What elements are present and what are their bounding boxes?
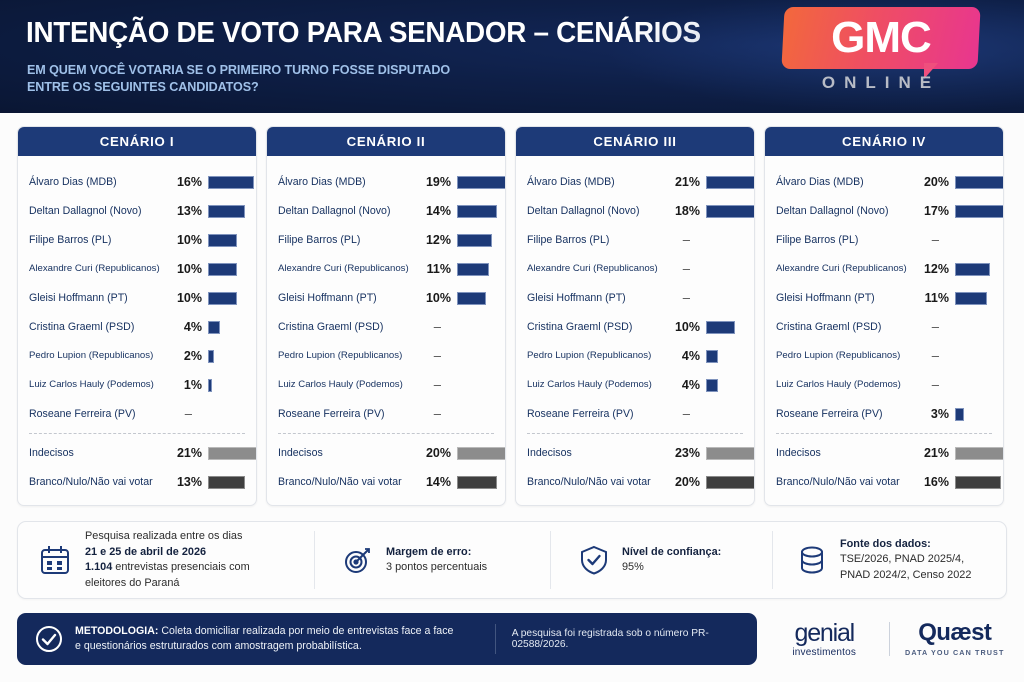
candidate-percent: – bbox=[642, 254, 700, 283]
candidate-row: Gleisi Hoffmann (PT)10% bbox=[18, 283, 256, 312]
candidate-bar bbox=[208, 447, 257, 460]
candidate-row: Deltan Dallagnol (Novo)14% bbox=[267, 196, 505, 225]
candidate-name: Alexandre Curi (Republicanos) bbox=[278, 254, 409, 283]
candidate-row: Pedro Lupion (Republicanos)4% bbox=[516, 341, 754, 370]
scenario-rows: Álvaro Dias (MDB)20%Deltan Dallagnol (No… bbox=[765, 156, 1003, 505]
candidate-row: Roseane Ferreira (PV)– bbox=[18, 399, 256, 428]
page-title: INTENÇÃO DE VOTO PARA SENADOR – CENÁRIOS bbox=[26, 17, 701, 50]
candidate-bar bbox=[457, 476, 497, 489]
interviews-line-2: eleitores do Paraná bbox=[85, 577, 179, 589]
candidate-bar bbox=[706, 321, 735, 334]
candidate-percent: 16% bbox=[144, 167, 202, 196]
section-divider bbox=[29, 433, 245, 434]
candidate-name: Indecisos bbox=[527, 438, 572, 467]
methodology-bar: METODOLOGIA: Coleta domiciliar realizada… bbox=[17, 613, 757, 665]
section-divider bbox=[776, 433, 992, 434]
source-title: Fonte dos dados: bbox=[840, 538, 931, 550]
scenario-column: CENÁRIO IIIÁlvaro Dias (MDB)21%Deltan Da… bbox=[515, 126, 755, 506]
candidate-bar bbox=[457, 205, 497, 218]
candidate-name: Luiz Carlos Hauly (Podemos) bbox=[278, 370, 403, 399]
info-panel: Pesquisa realizada entre os dias 21 e 25… bbox=[17, 521, 1007, 599]
methodology-text: METODOLOGIA: Coleta domiciliar realizada… bbox=[75, 624, 491, 654]
candidate-name: Filipe Barros (PL) bbox=[776, 225, 858, 254]
candidate-row: Filipe Barros (PL)12% bbox=[267, 225, 505, 254]
candidate-row: Pedro Lupion (Republicanos)– bbox=[765, 341, 1003, 370]
candidate-name: Deltan Dallagnol (Novo) bbox=[527, 196, 639, 225]
candidate-percent: 20% bbox=[642, 467, 700, 496]
candidate-percent: 12% bbox=[891, 254, 949, 283]
candidate-bar bbox=[955, 447, 1004, 460]
candidate-percent: 13% bbox=[144, 196, 202, 225]
candidate-row: Branco/Nulo/Não vai votar16% bbox=[765, 467, 1003, 496]
quaest-logo: Quæst DATA YOU CAN TRUST bbox=[900, 621, 1011, 657]
candidate-percent: – bbox=[393, 341, 451, 370]
candidate-row: Indecisos20% bbox=[267, 438, 505, 467]
candidate-row: Filipe Barros (PL)10% bbox=[18, 225, 256, 254]
candidate-name: Gleisi Hoffmann (PT) bbox=[527, 283, 626, 312]
candidate-percent: 12% bbox=[393, 225, 451, 254]
methodology-line-1: Coleta domiciliar realizada por meio de … bbox=[158, 625, 453, 637]
section-divider bbox=[278, 433, 494, 434]
candidate-percent: 21% bbox=[642, 167, 700, 196]
candidate-bar bbox=[457, 263, 489, 276]
candidate-name: Roseane Ferreira (PV) bbox=[29, 399, 136, 428]
candidate-percent: 19% bbox=[393, 167, 451, 196]
candidate-row: Álvaro Dias (MDB)16% bbox=[18, 167, 256, 196]
candidate-row: Indecisos21% bbox=[18, 438, 256, 467]
candidate-percent: – bbox=[393, 399, 451, 428]
candidate-name: Álvaro Dias (MDB) bbox=[527, 167, 615, 196]
methodology-line-2: e questionários estruturados com amostra… bbox=[75, 640, 362, 652]
candidate-bar bbox=[208, 379, 212, 392]
candidate-bar bbox=[706, 476, 755, 489]
scenario-rows: Álvaro Dias (MDB)19%Deltan Dallagnol (No… bbox=[267, 156, 505, 505]
candidate-row: Indecisos21% bbox=[765, 438, 1003, 467]
header-banner: INTENÇÃO DE VOTO PARA SENADOR – CENÁRIOS… bbox=[0, 0, 1024, 113]
candidate-bar bbox=[208, 350, 214, 363]
candidate-row: Luiz Carlos Hauly (Podemos)1% bbox=[18, 370, 256, 399]
candidate-row: Roseane Ferreira (PV)– bbox=[516, 399, 754, 428]
confidence-title: Nível de confiança: bbox=[622, 546, 721, 558]
candidate-row: Alexandre Curi (Republicanos)12% bbox=[765, 254, 1003, 283]
candidate-percent: 23% bbox=[642, 438, 700, 467]
candidate-name: Alexandre Curi (Republicanos) bbox=[776, 254, 907, 283]
info-source-text: Fonte dos dados: TSE/2026, PNAD 2025/4, … bbox=[840, 537, 971, 584]
candidate-row: Pedro Lupion (Republicanos)2% bbox=[18, 341, 256, 370]
candidate-row: Filipe Barros (PL)– bbox=[516, 225, 754, 254]
quaest-tagline: DATA YOU CAN TRUST bbox=[900, 648, 1011, 657]
candidate-bar bbox=[706, 447, 755, 460]
candidate-name: Indecisos bbox=[29, 438, 74, 467]
candidate-row: Deltan Dallagnol (Novo)18% bbox=[516, 196, 754, 225]
candidate-percent: 14% bbox=[393, 196, 451, 225]
candidate-bar bbox=[955, 476, 1001, 489]
candidate-percent: 17% bbox=[891, 196, 949, 225]
candidate-row: Álvaro Dias (MDB)19% bbox=[267, 167, 505, 196]
logo-wordmark: GMC bbox=[783, 7, 979, 69]
candidate-name: Roseane Ferreira (PV) bbox=[527, 399, 634, 428]
candidate-percent: – bbox=[642, 225, 700, 254]
candidate-name: Pedro Lupion (Republicanos) bbox=[776, 341, 900, 370]
candidate-name: Branco/Nulo/Não vai votar bbox=[278, 467, 402, 496]
candidate-row: Deltan Dallagnol (Novo)17% bbox=[765, 196, 1003, 225]
candidate-bar bbox=[706, 350, 718, 363]
candidate-percent: 10% bbox=[144, 225, 202, 254]
period-dates: 21 e 25 de abril de 2026 bbox=[85, 546, 206, 558]
scenario-column: CENÁRIO IÁlvaro Dias (MDB)16%Deltan Dall… bbox=[17, 126, 257, 506]
candidate-bar bbox=[208, 263, 237, 276]
registration-number: A pesquisa foi registrada sob o número P… bbox=[512, 628, 757, 650]
info-confidence-text: Nível de confiança: 95% bbox=[622, 545, 721, 576]
candidate-name: Branco/Nulo/Não vai votar bbox=[29, 467, 153, 496]
scenario-rows: Álvaro Dias (MDB)16%Deltan Dallagnol (No… bbox=[18, 156, 256, 505]
candidate-name: Cristina Graeml (PSD) bbox=[29, 312, 134, 341]
candidate-percent: – bbox=[393, 370, 451, 399]
candidate-percent: – bbox=[891, 225, 949, 254]
methodology-divider bbox=[495, 624, 496, 654]
candidate-row: Luiz Carlos Hauly (Podemos)4% bbox=[516, 370, 754, 399]
gmc-logo: GMC ONLINE bbox=[776, 7, 990, 107]
candidate-name: Filipe Barros (PL) bbox=[29, 225, 111, 254]
candidate-percent: 1% bbox=[144, 370, 202, 399]
source-line-2: PNAD 2024/2, Censo 2022 bbox=[840, 569, 971, 581]
scenario-title: CENÁRIO II bbox=[267, 127, 505, 156]
candidate-percent: 11% bbox=[393, 254, 451, 283]
section-divider bbox=[527, 433, 743, 434]
candidate-bar bbox=[208, 176, 254, 189]
calendar-icon bbox=[38, 543, 72, 577]
candidate-percent: 16% bbox=[891, 467, 949, 496]
candidate-row: Branco/Nulo/Não vai votar14% bbox=[267, 467, 505, 496]
partner-divider bbox=[889, 622, 890, 656]
candidate-name: Roseane Ferreira (PV) bbox=[776, 399, 883, 428]
candidate-row: Luiz Carlos Hauly (Podemos)– bbox=[267, 370, 505, 399]
genial-wordmark: genial bbox=[770, 621, 879, 646]
candidate-percent: 10% bbox=[393, 283, 451, 312]
candidate-percent: 4% bbox=[642, 370, 700, 399]
scenario-title: CENÁRIO III bbox=[516, 127, 754, 156]
candidate-bar bbox=[706, 176, 755, 189]
candidate-percent: 13% bbox=[144, 467, 202, 496]
check-circle-icon bbox=[35, 625, 63, 653]
candidate-percent: – bbox=[891, 341, 949, 370]
scenario-column: CENÁRIO IVÁlvaro Dias (MDB)20%Deltan Dal… bbox=[764, 126, 1004, 506]
candidate-name: Cristina Graeml (PSD) bbox=[278, 312, 383, 341]
info-confidence: Nível de confiança: 95% bbox=[550, 531, 772, 589]
scenario-columns: CENÁRIO IÁlvaro Dias (MDB)16%Deltan Dall… bbox=[0, 126, 1024, 508]
candidate-row: Gleisi Hoffmann (PT)10% bbox=[267, 283, 505, 312]
candidate-name: Gleisi Hoffmann (PT) bbox=[278, 283, 377, 312]
candidate-bar bbox=[457, 447, 506, 460]
candidate-row: Alexandre Curi (Republicanos)10% bbox=[18, 254, 256, 283]
scenario-title: CENÁRIO IV bbox=[765, 127, 1003, 156]
infographic-page: INTENÇÃO DE VOTO PARA SENADOR – CENÁRIOS… bbox=[0, 0, 1024, 682]
candidate-name: Cristina Graeml (PSD) bbox=[527, 312, 632, 341]
candidate-name: Luiz Carlos Hauly (Podemos) bbox=[29, 370, 154, 399]
candidate-percent: – bbox=[144, 399, 202, 428]
candidate-name: Pedro Lupion (Republicanos) bbox=[527, 341, 651, 370]
period-line-1: Pesquisa realizada entre os dias bbox=[85, 530, 242, 542]
candidate-name: Deltan Dallagnol (Novo) bbox=[776, 196, 888, 225]
candidate-percent: 11% bbox=[891, 283, 949, 312]
candidate-bar bbox=[955, 205, 1004, 218]
candidate-name: Roseane Ferreira (PV) bbox=[278, 399, 385, 428]
margin-value: 3 pontos percentuais bbox=[386, 561, 487, 573]
candidate-percent: 21% bbox=[144, 438, 202, 467]
candidate-percent: 4% bbox=[642, 341, 700, 370]
candidate-name: Pedro Lupion (Republicanos) bbox=[278, 341, 402, 370]
candidate-percent: 20% bbox=[891, 167, 949, 196]
partner-logos: genial investimentos Quæst DATA YOU CAN … bbox=[770, 613, 1010, 665]
candidate-row: Deltan Dallagnol (Novo)13% bbox=[18, 196, 256, 225]
candidate-bar bbox=[208, 234, 237, 247]
genial-tagline: investimentos bbox=[770, 647, 879, 658]
candidate-name: Filipe Barros (PL) bbox=[527, 225, 609, 254]
interviews-text: entrevistas presenciais com bbox=[112, 561, 249, 573]
candidate-percent: – bbox=[393, 312, 451, 341]
candidate-row: Indecisos23% bbox=[516, 438, 754, 467]
confidence-value: 95% bbox=[622, 561, 644, 573]
candidate-row: Cristina Graeml (PSD)10% bbox=[516, 312, 754, 341]
candidate-name: Indecisos bbox=[776, 438, 821, 467]
subtitle-line-1: EM QUEM VOCÊ VOTARIA SE O PRIMEIRO TURNO… bbox=[27, 62, 450, 79]
candidate-row: Gleisi Hoffmann (PT)11% bbox=[765, 283, 1003, 312]
candidate-row: Roseane Ferreira (PV)3% bbox=[765, 399, 1003, 428]
candidate-percent: – bbox=[891, 370, 949, 399]
candidate-bar bbox=[955, 263, 990, 276]
candidate-row: Luiz Carlos Hauly (Podemos)– bbox=[765, 370, 1003, 399]
candidate-percent: 10% bbox=[144, 283, 202, 312]
candidate-row: Gleisi Hoffmann (PT)– bbox=[516, 283, 754, 312]
info-margin: Margem de erro: 3 pontos percentuais bbox=[314, 531, 550, 589]
candidate-percent: 3% bbox=[891, 399, 949, 428]
candidate-percent: 2% bbox=[144, 341, 202, 370]
candidate-row: Álvaro Dias (MDB)20% bbox=[765, 167, 1003, 196]
candidate-name: Álvaro Dias (MDB) bbox=[278, 167, 366, 196]
candidate-bar bbox=[457, 292, 486, 305]
candidate-name: Luiz Carlos Hauly (Podemos) bbox=[527, 370, 652, 399]
genial-logo: genial investimentos bbox=[770, 621, 879, 658]
candidate-row: Cristina Graeml (PSD)– bbox=[267, 312, 505, 341]
info-source: Fonte dos dados: TSE/2026, PNAD 2025/4, … bbox=[772, 531, 1006, 589]
candidate-bar bbox=[955, 176, 1004, 189]
candidate-percent: 18% bbox=[642, 196, 700, 225]
candidate-percent: 4% bbox=[144, 312, 202, 341]
info-margin-text: Margem de erro: 3 pontos percentuais bbox=[386, 545, 487, 576]
candidate-row: Branco/Nulo/Não vai votar20% bbox=[516, 467, 754, 496]
candidate-percent: – bbox=[642, 283, 700, 312]
candidate-name: Cristina Graeml (PSD) bbox=[776, 312, 881, 341]
candidate-name: Filipe Barros (PL) bbox=[278, 225, 360, 254]
candidate-name: Branco/Nulo/Não vai votar bbox=[776, 467, 900, 496]
candidate-bar bbox=[457, 176, 506, 189]
info-period-text: Pesquisa realizada entre os dias 21 e 25… bbox=[85, 529, 250, 591]
database-icon bbox=[797, 544, 827, 576]
candidate-name: Gleisi Hoffmann (PT) bbox=[776, 283, 875, 312]
candidate-bar bbox=[955, 292, 987, 305]
candidate-percent: 21% bbox=[891, 438, 949, 467]
candidate-bar bbox=[955, 408, 964, 421]
candidate-row: Filipe Barros (PL)– bbox=[765, 225, 1003, 254]
candidate-bar bbox=[208, 321, 220, 334]
interviews-count: 1.104 bbox=[85, 561, 112, 573]
source-line-1: TSE/2026, PNAD 2025/4, bbox=[840, 553, 964, 565]
candidate-name: Luiz Carlos Hauly (Podemos) bbox=[776, 370, 901, 399]
candidate-row: Cristina Graeml (PSD)4% bbox=[18, 312, 256, 341]
candidate-row: Álvaro Dias (MDB)21% bbox=[516, 167, 754, 196]
candidate-name: Álvaro Dias (MDB) bbox=[776, 167, 864, 196]
target-icon bbox=[343, 545, 373, 575]
shield-check-icon bbox=[579, 544, 609, 576]
candidate-name: Deltan Dallagnol (Novo) bbox=[278, 196, 390, 225]
candidate-percent: – bbox=[642, 399, 700, 428]
logo-tagline: ONLINE bbox=[783, 73, 979, 93]
candidate-row: Alexandre Curi (Republicanos)11% bbox=[267, 254, 505, 283]
candidate-bar bbox=[706, 379, 718, 392]
candidate-percent: 10% bbox=[144, 254, 202, 283]
candidate-bar bbox=[457, 234, 492, 247]
scenario-title: CENÁRIO I bbox=[18, 127, 256, 156]
scenario-column: CENÁRIO IIÁlvaro Dias (MDB)19%Deltan Dal… bbox=[266, 126, 506, 506]
quaest-wordmark: Quæst bbox=[900, 621, 1011, 645]
candidate-bar bbox=[208, 292, 237, 305]
candidate-bar bbox=[208, 205, 245, 218]
candidate-name: Gleisi Hoffmann (PT) bbox=[29, 283, 128, 312]
candidate-percent: 20% bbox=[393, 438, 451, 467]
candidate-row: Roseane Ferreira (PV)– bbox=[267, 399, 505, 428]
candidate-name: Pedro Lupion (Republicanos) bbox=[29, 341, 153, 370]
candidate-name: Indecisos bbox=[278, 438, 323, 467]
candidate-row: Branco/Nulo/Não vai votar13% bbox=[18, 467, 256, 496]
methodology-label: METODOLOGIA: bbox=[75, 625, 158, 637]
candidate-row: Cristina Graeml (PSD)– bbox=[765, 312, 1003, 341]
subtitle-line-2: ENTRE OS SEGUINTES CANDIDATOS? bbox=[27, 79, 450, 96]
candidate-bar bbox=[208, 476, 245, 489]
margin-title: Margem de erro: bbox=[386, 546, 471, 558]
info-period: Pesquisa realizada entre os dias 21 e 25… bbox=[18, 531, 314, 589]
candidate-percent: 10% bbox=[642, 312, 700, 341]
candidate-name: Alexandre Curi (Republicanos) bbox=[29, 254, 160, 283]
candidate-name: Branco/Nulo/Não vai votar bbox=[527, 467, 651, 496]
candidate-row: Alexandre Curi (Republicanos)– bbox=[516, 254, 754, 283]
candidate-name: Álvaro Dias (MDB) bbox=[29, 167, 117, 196]
candidate-bar bbox=[706, 205, 755, 218]
candidate-percent: 14% bbox=[393, 467, 451, 496]
candidate-name: Alexandre Curi (Republicanos) bbox=[527, 254, 658, 283]
candidate-percent: – bbox=[891, 312, 949, 341]
scenario-rows: Álvaro Dias (MDB)21%Deltan Dallagnol (No… bbox=[516, 156, 754, 505]
candidate-name: Deltan Dallagnol (Novo) bbox=[29, 196, 141, 225]
candidate-row: Pedro Lupion (Republicanos)– bbox=[267, 341, 505, 370]
page-subtitle: EM QUEM VOCÊ VOTARIA SE O PRIMEIRO TURNO… bbox=[27, 62, 450, 96]
